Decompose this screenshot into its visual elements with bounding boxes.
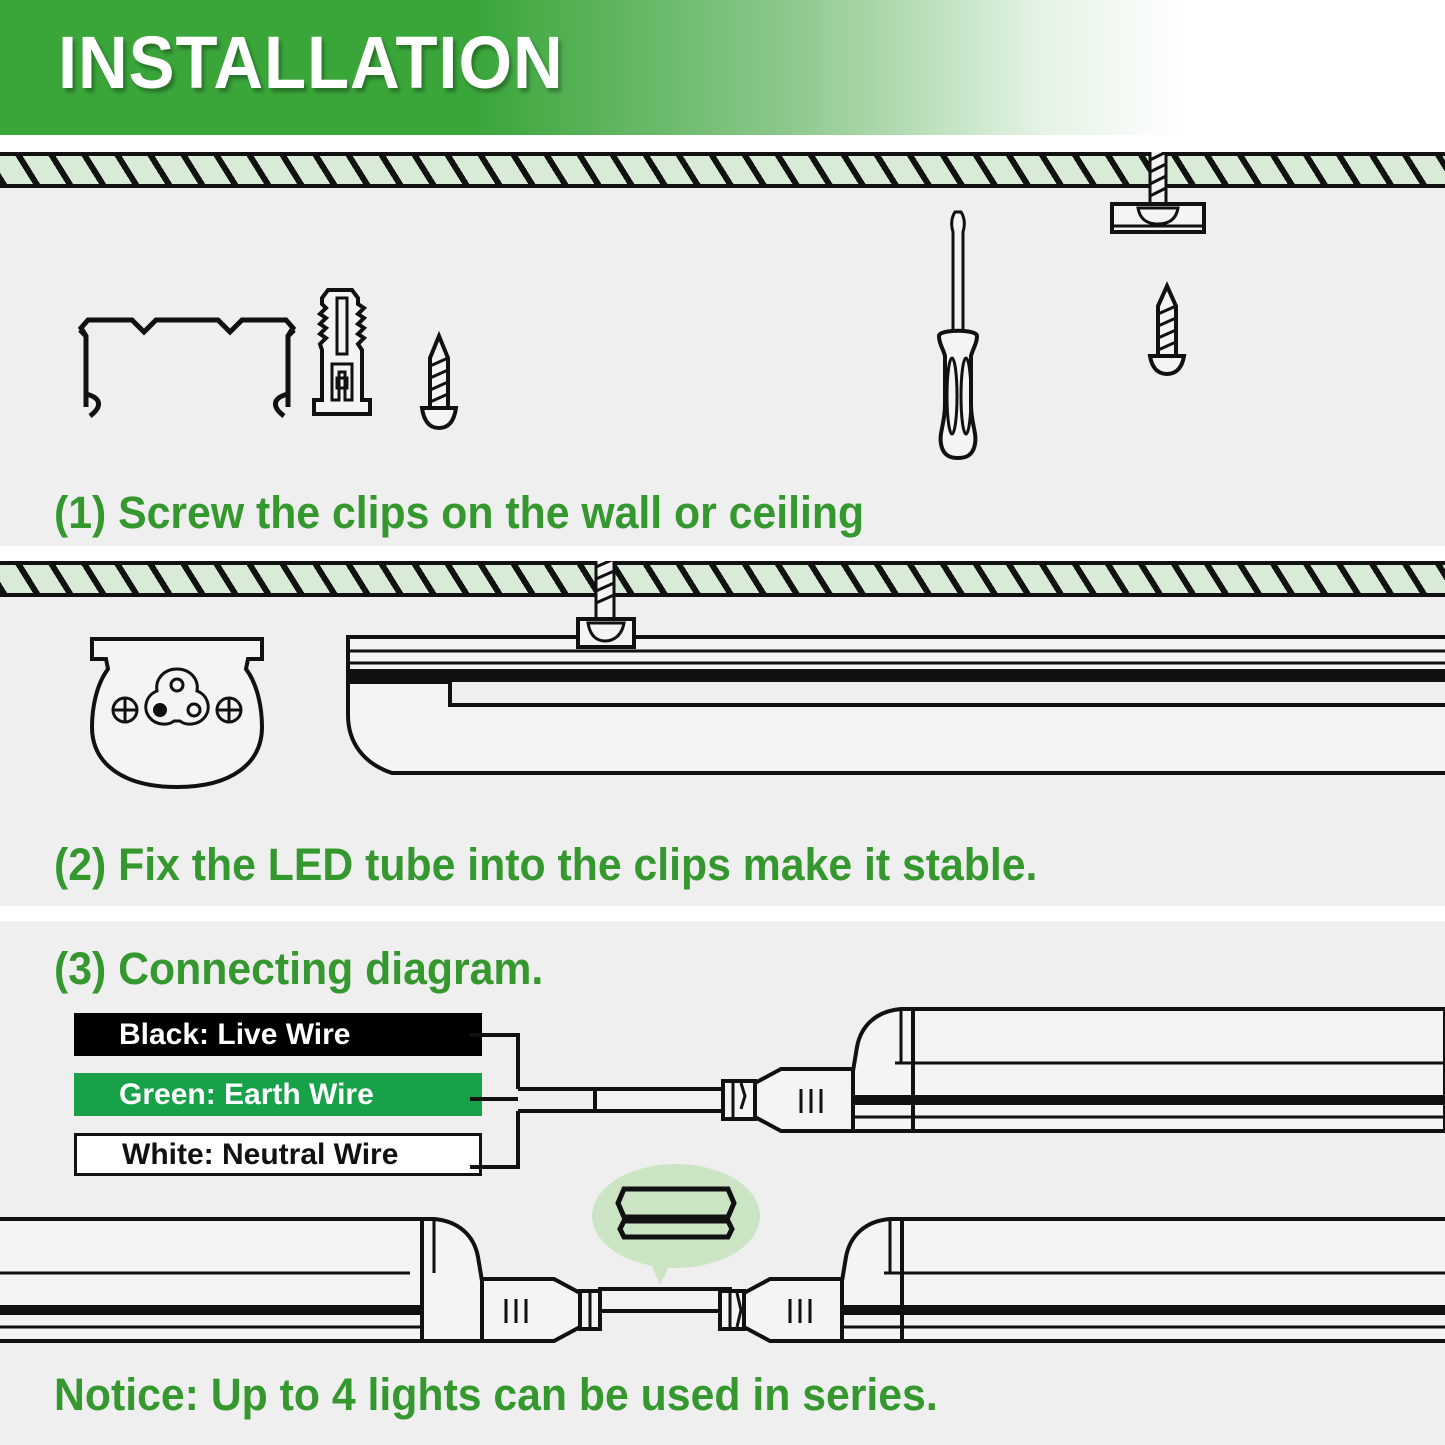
step-1-caption: (1) Screw the clips on the wall or ceili… bbox=[54, 487, 864, 539]
notice-text: Notice: Up to 4 lights can be used in se… bbox=[54, 1369, 938, 1421]
step-3-caption: (3) Connecting diagram. bbox=[54, 943, 543, 995]
legend-label-earth: Green: Earth Wire bbox=[119, 1078, 374, 1112]
installation-guide-page: INSTALLATION bbox=[0, 0, 1445, 1445]
step-2-panel: (2) Fix the LED tube into the clips make… bbox=[0, 561, 1445, 906]
interconnect-cable bbox=[600, 1279, 730, 1319]
header-banner: INSTALLATION bbox=[0, 0, 1445, 135]
led-tube-top-assembly bbox=[595, 1001, 1445, 1141]
legend-label-live: Black: Live Wire bbox=[119, 1018, 351, 1052]
page-title: INSTALLATION bbox=[58, 26, 564, 100]
mounting-clip-icon bbox=[72, 312, 302, 422]
led-tube-bottom-right-assembly bbox=[718, 1211, 1445, 1351]
screw-icon bbox=[414, 332, 464, 432]
legend-row-neutral: White: Neutral Wire bbox=[74, 1133, 482, 1176]
ceiling-hatch-step2 bbox=[0, 561, 1445, 597]
screw-in-ceiling-icon-step2 bbox=[560, 565, 650, 675]
step-1-panel: (1) Screw the clips on the wall or ceili… bbox=[0, 152, 1445, 546]
screw-in-ceiling-icon bbox=[1108, 154, 1208, 274]
led-tube-bottom-left-assembly bbox=[0, 1211, 600, 1351]
wire-legend: Black: Live Wire Green: Earth Wire White… bbox=[74, 1013, 482, 1193]
legend-label-neutral: White: Neutral Wire bbox=[122, 1138, 398, 1172]
legend-row-live: Black: Live Wire bbox=[74, 1013, 482, 1056]
ceiling-hatch-step1 bbox=[0, 152, 1445, 188]
wall-anchor-icon bbox=[306, 282, 378, 427]
clip-front-view-icon bbox=[82, 633, 272, 793]
screwdriver-icon bbox=[925, 204, 995, 464]
screw-icon-2 bbox=[1142, 282, 1192, 378]
led-tube-step2 bbox=[340, 627, 1445, 787]
legend-row-earth: Green: Earth Wire bbox=[74, 1073, 482, 1116]
step-3-panel: (3) Connecting diagram. Black: Live Wire… bbox=[0, 921, 1445, 1445]
step-2-caption: (2) Fix the LED tube into the clips make… bbox=[54, 839, 1037, 891]
